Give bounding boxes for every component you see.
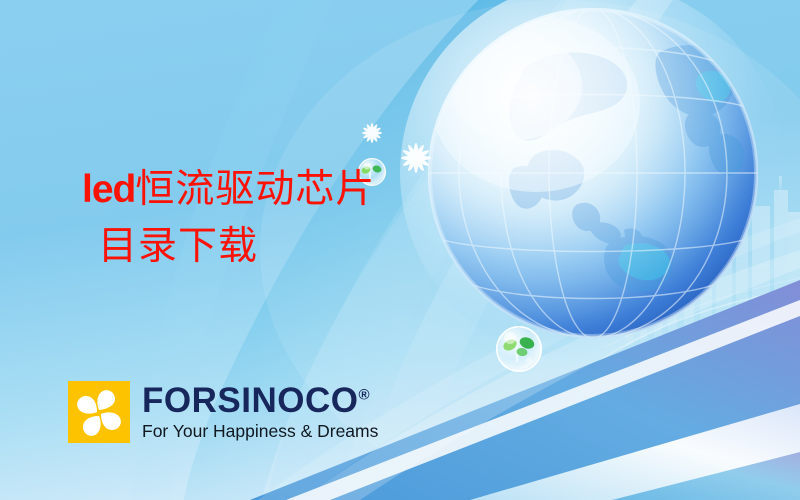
headline-line-1: led恒流驱动芯片 bbox=[82, 162, 375, 219]
promo-banner: led恒流驱动芯片 目录下载 FORSINOCO® For Your Happi… bbox=[0, 0, 800, 500]
headline-cjk: 恒流驱动芯片 bbox=[135, 168, 375, 211]
brand-logo: FORSINOCO® For Your Happiness & Dreams bbox=[68, 381, 378, 443]
headline-line-2: 目录下载 bbox=[82, 219, 375, 276]
brand-name-text: FORSINOCO bbox=[142, 381, 358, 420]
pinwheel-icon bbox=[68, 381, 130, 443]
headline-latin: led bbox=[82, 168, 135, 211]
logo-text-block: FORSINOCO® For Your Happiness & Dreams bbox=[142, 383, 378, 441]
forsinoco-pinwheel-mark bbox=[68, 381, 130, 443]
brand-name: FORSINOCO® bbox=[142, 383, 378, 418]
headline: led恒流驱动芯片 目录下载 bbox=[82, 162, 375, 275]
registered-mark: ® bbox=[358, 387, 370, 404]
globe-graphic bbox=[428, 8, 758, 338]
sparkle-small bbox=[362, 123, 382, 143]
brand-tagline: For Your Happiness & Dreams bbox=[142, 423, 378, 441]
